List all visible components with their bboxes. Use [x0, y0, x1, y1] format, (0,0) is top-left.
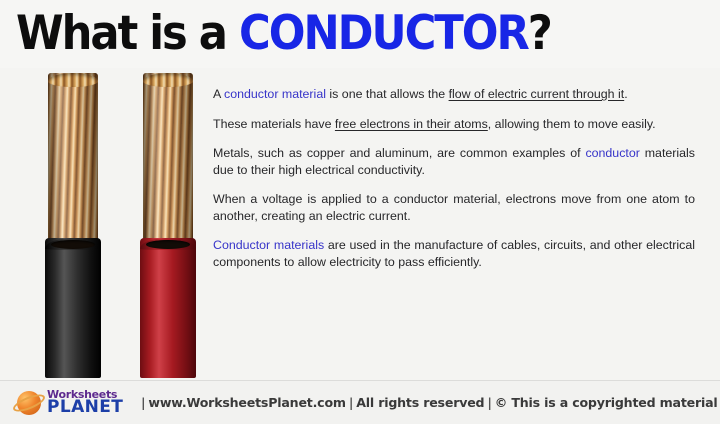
paragraph-3: Metals, such as copper and aluminum, are…: [213, 145, 695, 178]
page-title-accent: CONDUCTOR: [239, 6, 528, 61]
definition-body: A conductor material is one that allows …: [213, 86, 695, 270]
text-run: A: [213, 87, 224, 101]
insulation-black: [45, 238, 101, 378]
text-run: Metals, such as copper and aluminum, are…: [213, 146, 585, 160]
logo-line-planet: PLANET: [47, 399, 123, 416]
text-run: , allowing them to move easily.: [488, 117, 656, 131]
wire-red: [140, 73, 196, 378]
text-run: These materials have: [213, 117, 335, 131]
footer-separator-3: |: [484, 395, 494, 410]
header-band: What is a CONDUCTOR?: [0, 0, 720, 68]
paragraph-4: When a voltage is applied to a conductor…: [213, 191, 695, 224]
worksheet-page: What is a CONDUCTOR? A conductor materia…: [0, 0, 720, 424]
page-title: What is a CONDUCTOR?: [16, 8, 551, 60]
page-title-part1: What is a: [16, 6, 239, 61]
highlight-term: conductor material: [224, 87, 326, 101]
planet-icon: [14, 388, 44, 418]
text-run: is one that allows the: [326, 87, 449, 101]
insulation-opening-black: [51, 240, 95, 249]
underlined-term: free electrons in their atoms: [335, 117, 488, 131]
worksheets-planet-logo[interactable]: Worksheets PLANET: [14, 388, 126, 418]
footer-copyright: © This is a copyrighted material: [495, 395, 718, 410]
wire-black: [45, 73, 101, 378]
wire-illustration: [0, 68, 205, 380]
insulation-opening-red: [146, 240, 190, 249]
copper-strands-red: [143, 73, 193, 245]
highlight-term: Conductor materials: [213, 238, 324, 252]
footer-credits: |www.WorksheetsPlanet.com|All rights res…: [138, 395, 718, 410]
copper-strands-black: [48, 73, 98, 245]
insulation-red: [140, 238, 196, 378]
text-run: When a voltage is applied to a conductor…: [213, 192, 695, 223]
text-run: .: [624, 87, 627, 101]
paragraph-2: These materials have free electrons in t…: [213, 116, 695, 133]
footer-rights: All rights reserved: [356, 395, 484, 410]
footer-separator-2: |: [346, 395, 356, 410]
highlight-term: conductor: [585, 146, 639, 160]
footer-website[interactable]: www.WorksheetsPlanet.com: [148, 395, 345, 410]
page-title-question-mark: ?: [528, 6, 551, 61]
paragraph-5: Conductor materials are used in the manu…: [213, 237, 695, 270]
paragraph-1: A conductor material is one that allows …: [213, 86, 695, 103]
underlined-term: flow of electric current through it: [449, 87, 625, 101]
footer-bar: Worksheets PLANET |www.WorksheetsPlanet.…: [0, 380, 720, 424]
logo-wordmark: Worksheets PLANET: [47, 389, 123, 416]
footer-separator-1: |: [138, 395, 148, 410]
